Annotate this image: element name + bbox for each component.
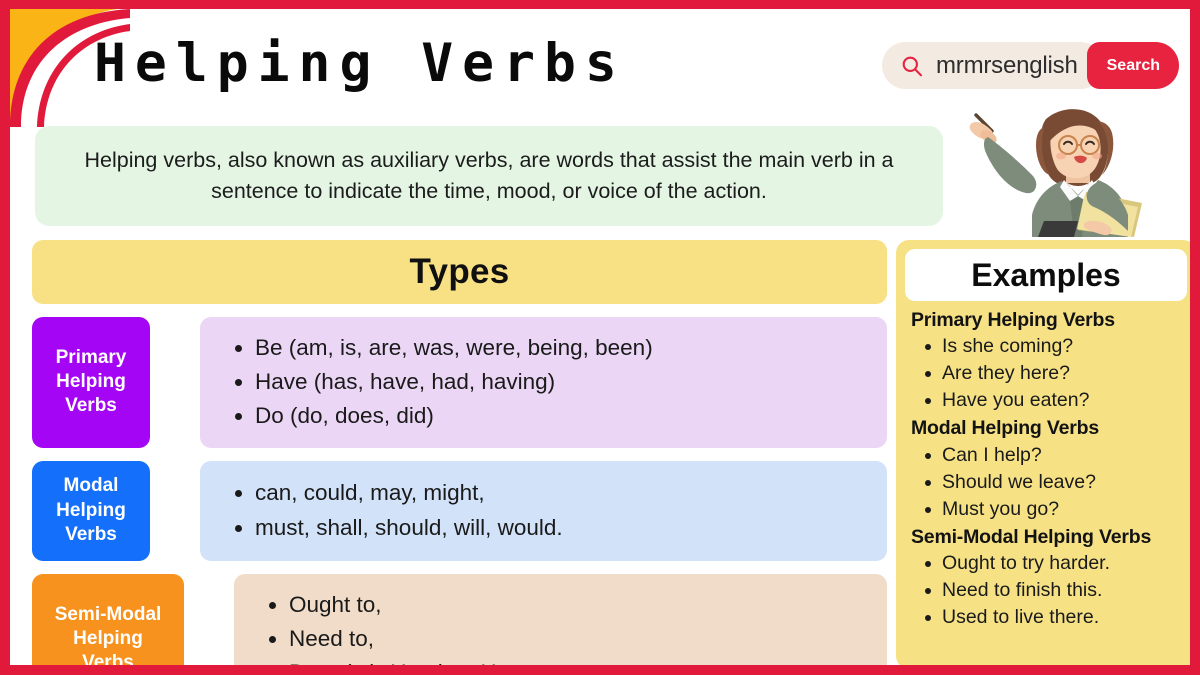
poster-canvas: Helping Verbs mrmrsenglish Search Helpin… <box>10 9 1190 665</box>
example-item: Is she coming? <box>911 333 1185 360</box>
type-content-modal: can, could, may, might, must, shall, sho… <box>200 461 887 561</box>
types-banner-label: Types <box>409 252 509 292</box>
type-item: Dare (to), Used to, Have to <box>266 656 887 665</box>
type-item: Need to, <box>266 622 887 656</box>
type-label-primary[interactable]: Primary Helping Verbs <box>32 317 150 448</box>
example-group-title: Semi-Modal Helping Verbs <box>911 524 1185 550</box>
search-icon <box>901 55 923 77</box>
example-item: Are they here? <box>911 360 1185 387</box>
intro-text: Helping verbs, also known as auxiliary v… <box>69 145 909 206</box>
type-label-line: Verbs <box>82 651 134 665</box>
type-label-line: Modal <box>64 474 119 498</box>
types-column: Types Primary Helping Verbs Be (am, is, … <box>32 240 887 665</box>
type-label-line: Helping <box>73 627 143 651</box>
examples-header-label: Examples <box>971 257 1120 294</box>
search-input[interactable]: mrmrsenglish <box>882 42 1104 89</box>
type-content-primary: Be (am, is, are, was, were, being, been)… <box>200 317 887 448</box>
example-group-semi-modal: Semi-Modal Helping Verbs Ought to try ha… <box>911 524 1185 631</box>
type-item: Have (has, have, had, having) <box>232 365 887 399</box>
example-item: Used to live there. <box>911 604 1185 631</box>
type-item-list: can, could, may, might, must, shall, sho… <box>232 476 887 544</box>
type-label-line: Verbs <box>65 394 117 418</box>
type-label-line: Helping <box>56 499 126 523</box>
type-item: must, shall, should, will, would. <box>232 511 887 545</box>
type-item-list: Ought to, Need to, Dare (to), Used to, H… <box>266 588 887 665</box>
teacher-pointing-illustration <box>958 97 1158 237</box>
types-banner: Types <box>32 240 887 304</box>
search-button[interactable]: Search <box>1087 42 1179 89</box>
type-label-line: Helping <box>56 370 126 394</box>
example-list: Ought to try harder. Need to finish this… <box>911 550 1185 631</box>
type-item-list: Be (am, is, are, was, were, being, been)… <box>232 331 887 434</box>
page-title: Helping Verbs <box>94 33 626 94</box>
example-list: Can I help? Should we leave? Must you go… <box>911 442 1185 523</box>
search-widget: mrmrsenglish Search <box>882 42 1179 89</box>
type-label-line: Semi-Modal <box>55 603 162 627</box>
example-list: Is she coming? Are they here? Have you e… <box>911 333 1185 414</box>
example-item: Can I help? <box>911 442 1185 469</box>
type-content-semi-modal: Ought to, Need to, Dare (to), Used to, H… <box>234 574 887 665</box>
examples-header: Examples <box>905 249 1187 301</box>
type-item: can, could, may, might, <box>232 476 887 510</box>
example-group-primary: Primary Helping Verbs Is she coming? Are… <box>911 307 1185 414</box>
example-item: Must you go? <box>911 496 1185 523</box>
example-item: Need to finish this. <box>911 577 1185 604</box>
type-label-semi-modal[interactable]: Semi-Modal Helping Verbs <box>32 574 184 665</box>
example-item: Have you eaten? <box>911 387 1185 414</box>
example-item: Should we leave? <box>911 469 1185 496</box>
type-row-modal: Modal Helping Verbs can, could, may, mig… <box>32 461 887 561</box>
type-item: Be (am, is, are, was, were, being, been) <box>232 331 887 365</box>
example-group-title: Primary Helping Verbs <box>911 307 1185 333</box>
type-row-primary: Primary Helping Verbs Be (am, is, are, w… <box>32 317 887 448</box>
type-label-line: Verbs <box>65 523 117 547</box>
example-group-title: Modal Helping Verbs <box>911 415 1185 441</box>
type-label-modal[interactable]: Modal Helping Verbs <box>32 461 150 561</box>
intro-banner: Helping verbs, also known as auxiliary v… <box>35 126 943 226</box>
poster-frame: Helping Verbs mrmrsenglish Search Helpin… <box>0 0 1200 675</box>
example-item: Ought to try harder. <box>911 550 1185 577</box>
type-item: Ought to, <box>266 588 887 622</box>
type-label-line: Primary <box>56 346 127 370</box>
examples-body: Primary Helping Verbs Is she coming? Are… <box>905 301 1187 659</box>
examples-panel: Examples Primary Helping Verbs Is she co… <box>896 240 1190 665</box>
example-group-modal: Modal Helping Verbs Can I help? Should w… <box>911 415 1185 522</box>
type-row-semi-modal: Semi-Modal Helping Verbs Ought to, Need … <box>32 574 887 665</box>
search-input-value: mrmrsenglish <box>936 52 1078 80</box>
type-item: Do (do, does, did) <box>232 399 887 433</box>
